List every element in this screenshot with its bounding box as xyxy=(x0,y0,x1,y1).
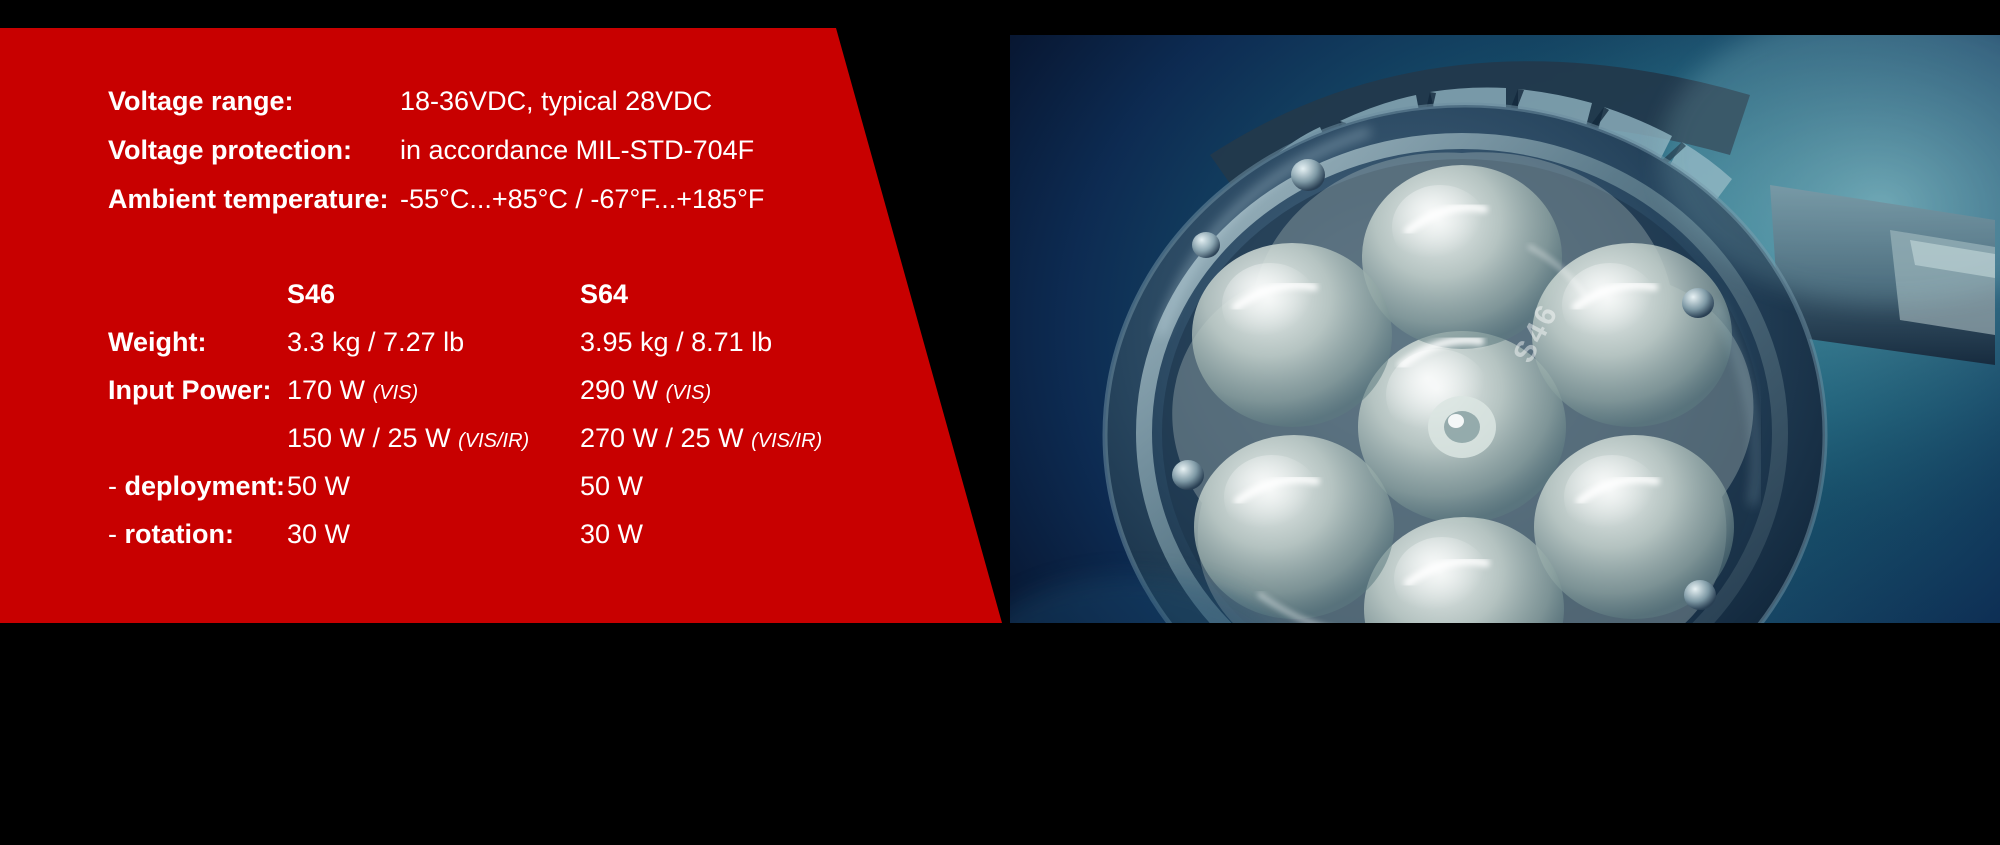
spec-label-voltage-range: Voltage range: xyxy=(108,86,294,117)
spec-text-block: Voltage range: 18-36VDC, typical 28VDC V… xyxy=(0,28,1010,623)
cell-input-power-visir-s64: 270 W / 25 W (VIS/IR) xyxy=(580,423,822,454)
row-label-input-power: Input Power: xyxy=(108,375,272,406)
spec-value-voltage-range: 18-36VDC, typical 28VDC xyxy=(400,86,712,117)
cell-input-power-visir-s64-note: (VIS/IR) xyxy=(751,430,822,452)
cell-input-power-s46-value: 170 W xyxy=(287,375,365,405)
row-label-deployment-text: deployment: xyxy=(125,471,286,501)
spec-value-ambient-temperature: -55°C...+85°C / -67°F...+185°F xyxy=(400,184,764,215)
slide-canvas: S46 Voltage range: 18-36 xyxy=(0,0,2000,845)
cell-input-power-visir-s46-note: (VIS/IR) xyxy=(458,430,529,452)
row-label-rotation-text: rotation: xyxy=(125,519,234,549)
cell-input-power-visir-s46: 150 W / 25 W (VIS/IR) xyxy=(287,423,529,454)
row-dash-deployment: - xyxy=(108,471,117,501)
cell-rotation-s64: 30 W xyxy=(580,519,643,550)
cell-input-power-s64-value: 290 W xyxy=(580,375,658,405)
row-dash-rotation: - xyxy=(108,519,117,549)
cell-input-power-s46-note: (VIS) xyxy=(373,382,419,404)
row-label-rotation: - rotation: xyxy=(108,519,234,550)
cell-input-power-visir-s46-value: 150 W / 25 W xyxy=(287,423,451,453)
column-header-s64: S64 xyxy=(580,279,628,310)
spec-label-voltage-protection: Voltage protection: xyxy=(108,135,352,166)
spec-label-ambient-temperature: Ambient temperature: xyxy=(108,184,389,215)
column-header-s46: S46 xyxy=(287,279,335,310)
cell-weight-s46: 3.3 kg / 7.27 lb xyxy=(287,327,464,358)
cell-input-power-visir-s64-value: 270 W / 25 W xyxy=(580,423,744,453)
cell-weight-s64: 3.95 kg / 8.71 lb xyxy=(580,327,772,358)
cell-rotation-s46: 30 W xyxy=(287,519,350,550)
row-label-deployment: - deployment: xyxy=(108,471,285,502)
letterbox-bottom-right xyxy=(1010,623,2000,810)
cell-deployment-s46: 50 W xyxy=(287,471,350,502)
cell-input-power-s46: 170 W (VIS) xyxy=(287,375,418,406)
row-label-weight: Weight: xyxy=(108,327,206,358)
letterbox-top xyxy=(0,0,2000,28)
cell-deployment-s64: 50 W xyxy=(580,471,643,502)
cell-input-power-s64-note: (VIS) xyxy=(666,382,712,404)
cell-input-power-s64: 290 W (VIS) xyxy=(580,375,711,406)
spec-value-voltage-protection: in accordance MIL-STD-704F xyxy=(400,135,754,166)
